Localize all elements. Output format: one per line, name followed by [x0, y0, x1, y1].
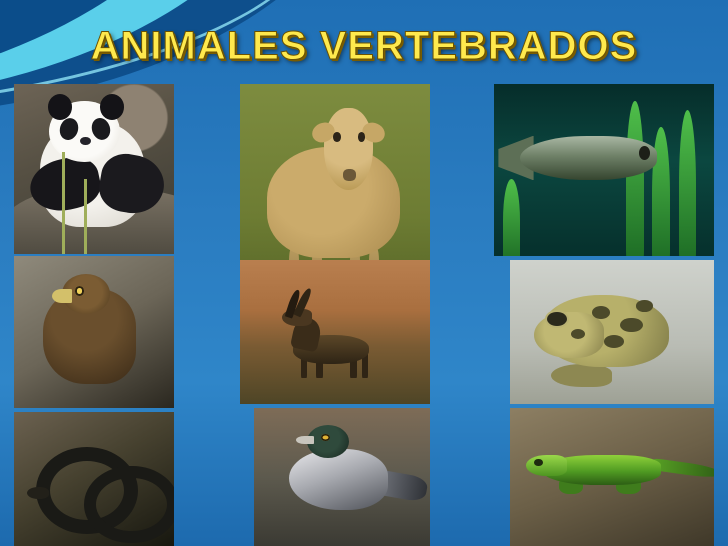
panda-ear-left [48, 94, 72, 120]
eagle-beak [52, 289, 71, 303]
snake-photo: Serpiente negra enroscada [14, 412, 174, 546]
toad-spot [604, 335, 624, 348]
panda-ear-right [100, 94, 124, 120]
slide: ANIMALES VERTEBRADOS Oso panda comiendo … [0, 0, 728, 546]
toad-head [534, 312, 603, 358]
water-plant [652, 127, 670, 256]
panda-image [14, 84, 174, 254]
sheep-nose [343, 169, 356, 181]
panda-nose [80, 137, 91, 146]
toad-photo: Sapo sobre superficie clara [510, 260, 714, 404]
slide-title: ANIMALES VERTEBRADOS [0, 24, 728, 69]
pigeon-eye [321, 434, 330, 441]
image-grid: Oso panda comiendo bambu Oveja en el cam… [14, 84, 714, 546]
toad-image [510, 260, 714, 404]
snake-coil [84, 466, 174, 544]
toad-spot [592, 306, 610, 319]
pigeon-image [254, 408, 430, 546]
ibex-photo: Cabra montes en la montana [240, 260, 430, 404]
fish-image [494, 84, 714, 256]
fish-body [520, 136, 656, 181]
fish-eye [639, 146, 650, 160]
water-plant [679, 110, 697, 256]
lizard-tail [652, 458, 714, 480]
lizard-head [526, 455, 567, 476]
snake-image [14, 412, 174, 546]
pigeon-body [289, 449, 388, 510]
panda-photo: Oso panda comiendo bambu [14, 84, 174, 254]
eagle-image [14, 256, 174, 408]
lizard-image [510, 408, 714, 546]
pigeon-photo: Paloma caminando [254, 408, 430, 546]
water-plant [626, 101, 644, 256]
water-plant [503, 179, 521, 256]
toad-spot [620, 318, 642, 332]
pigeon-beak [296, 436, 314, 444]
toad-spot [636, 300, 652, 312]
sheep-eye-left [333, 132, 341, 142]
eagle-photo: Aguila posada sobre una roca [14, 256, 174, 408]
ibex-image [240, 260, 430, 404]
lizard-photo: Lagartija verde sobre piedra [510, 408, 714, 546]
snake-head [27, 487, 49, 499]
toad-leg [551, 364, 612, 387]
fish-photo: Pez entre plantas acuaticas [494, 84, 714, 256]
bamboo-stalk [62, 152, 65, 254]
lizard-eye [534, 459, 542, 466]
eagle-eye [75, 286, 85, 295]
bamboo-stalk [84, 179, 87, 254]
